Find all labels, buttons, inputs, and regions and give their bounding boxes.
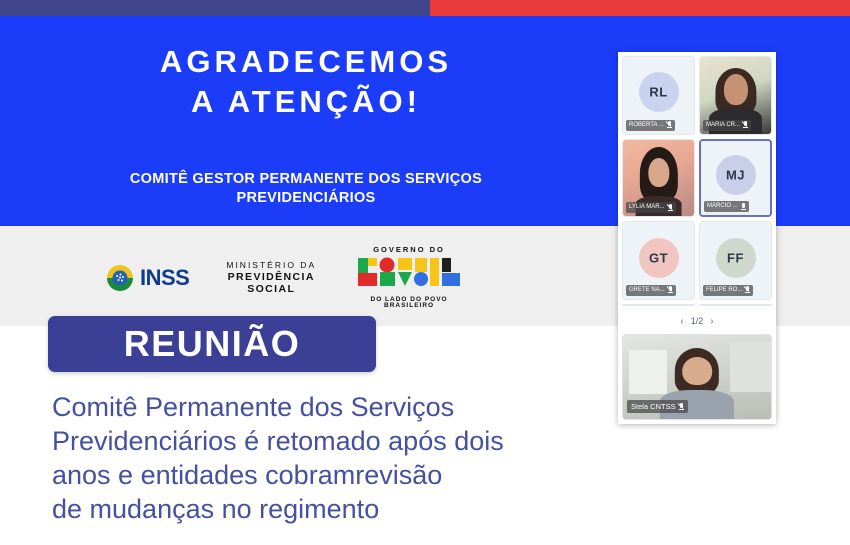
headline-line2: Previdenciários é retomado após dois <box>52 424 622 458</box>
participant-tile[interactable]: FF FELIPE RO... <box>699 221 772 300</box>
mic-muted-icon <box>668 286 673 294</box>
gov-brasil-logo: GOVERNO DO DO LADO DO POVO BRA <box>353 246 465 310</box>
headline-line1: Comitê Permanente dos Serviços <box>52 390 622 424</box>
avatar-initials: RL <box>649 85 667 100</box>
participant-tile[interactable]: R ROSANE (... <box>699 304 772 306</box>
avatar-initials: GT <box>649 250 668 265</box>
category-badge-reuniao: REUNIÃO <box>48 316 376 372</box>
participant-namebar: GRETE NA... <box>626 285 676 296</box>
slide-subtitle: COMITÊ GESTOR PERMANENTE DOS SERVIÇOS PR… <box>0 170 612 208</box>
ministry-line1: MINISTÉRIO DA <box>211 261 331 271</box>
video-call-panel: RL ROBERTA ... MARIA CR... <box>618 52 776 424</box>
mic-muted-icon <box>667 121 672 129</box>
pager-next-icon[interactable]: › <box>710 316 713 327</box>
mic-muted-icon <box>668 204 673 212</box>
inss-emblem-icon <box>105 263 135 293</box>
main-speaker-namebar: Stela CNTSS <box>627 400 688 413</box>
participant-tile[interactable]: MARIA CR... <box>699 56 772 135</box>
participant-namebar: ROBERTA ... <box>626 120 675 131</box>
participant-name: GRETE NA... <box>629 285 665 296</box>
participant-name: LYLIA MAR... <box>629 202 665 213</box>
gov-brasil-wordmark-icon <box>358 277 460 294</box>
gov-top-text: GOVERNO DO <box>353 246 465 254</box>
inss-logo: INSS <box>105 263 189 293</box>
participant-namebar: MARCIO ... <box>704 201 749 212</box>
topbar-right-segment <box>430 0 850 16</box>
main-speaker-name: Stela CNTSS <box>631 400 676 413</box>
pager-prev-icon[interactable]: ‹ <box>680 316 683 327</box>
participant-grid: RL ROBERTA ... MARIA CR... <box>618 52 776 310</box>
headline-line4: de mudanças no regimento <box>52 492 622 526</box>
participant-tile-active-speaker[interactable]: MJ MARCIO ... <box>699 139 772 218</box>
participant-namebar: LYLIA MAR... <box>626 202 676 213</box>
participant-tile[interactable]: RL ROBERTA ... <box>622 56 695 135</box>
main-speaker-tile[interactable]: Stela CNTSS <box>622 334 772 420</box>
topbar-left-segment <box>0 0 430 16</box>
slide-subtitle-line2: PREVIDENCIÁRIOS <box>0 189 612 208</box>
participant-tile[interactable]: GT GRETE NA... <box>622 221 695 300</box>
ministry-logo: MINISTÉRIO DA PREVIDÊNCIA SOCIAL <box>211 261 331 295</box>
slide-title-line2: A ATENÇÃO! <box>0 82 612 122</box>
slide-canvas: AGRADECEMOS A ATENÇÃO! COMITÊ GESTOR PER… <box>0 0 850 545</box>
participant-name: ROBERTA ... <box>629 120 664 131</box>
gov-bottom-text: DO LADO DO POVO BRASILEIRO <box>353 297 465 310</box>
slide-title-line1: AGRADECEMOS <box>0 42 612 82</box>
slide-subtitle-line1: COMITÊ GESTOR PERMANENTE DOS SERVIÇOS <box>0 170 612 189</box>
mic-muted-icon <box>745 286 750 294</box>
participant-namebar: FELIPE RO... <box>703 285 753 296</box>
participant-namebar: MARIA CR... <box>703 120 751 131</box>
avatar-initials: FF <box>727 250 744 265</box>
mic-muted-icon <box>679 403 684 411</box>
participant-name: MARCIO ... <box>707 201 738 212</box>
article-headline: Comitê Permanente dos Serviços Previdenc… <box>52 390 622 526</box>
top-color-bar <box>0 0 850 16</box>
avatar-initials: MJ <box>726 168 745 183</box>
participant-name: MARIA CR... <box>706 120 740 131</box>
category-badge-label: REUNIÃO <box>124 323 301 365</box>
participant-name: FELIPE RO... <box>706 285 742 296</box>
participant-tile[interactable]: LYLIA MAR... <box>622 139 695 218</box>
headline-line3: anos e entidades cobramrevisão <box>52 458 622 492</box>
participant-pager: ‹ 1/2 › <box>618 310 776 332</box>
inss-wordmark: INSS <box>140 265 189 291</box>
participant-tile[interactable]: DB DELANE D... <box>622 304 695 306</box>
avatar-initials: R <box>731 304 741 306</box>
pager-page-indicator: 1/2 <box>691 316 704 326</box>
logo-strip: INSS MINISTÉRIO DA PREVIDÊNCIA SOCIAL GO… <box>105 246 465 310</box>
avatar-initials: DB <box>649 304 669 306</box>
ministry-line2: PREVIDÊNCIA SOCIAL <box>211 271 331 295</box>
mic-on-icon <box>741 203 746 211</box>
slide-title: AGRADECEMOS A ATENÇÃO! <box>0 42 612 122</box>
mic-muted-icon <box>743 121 748 129</box>
